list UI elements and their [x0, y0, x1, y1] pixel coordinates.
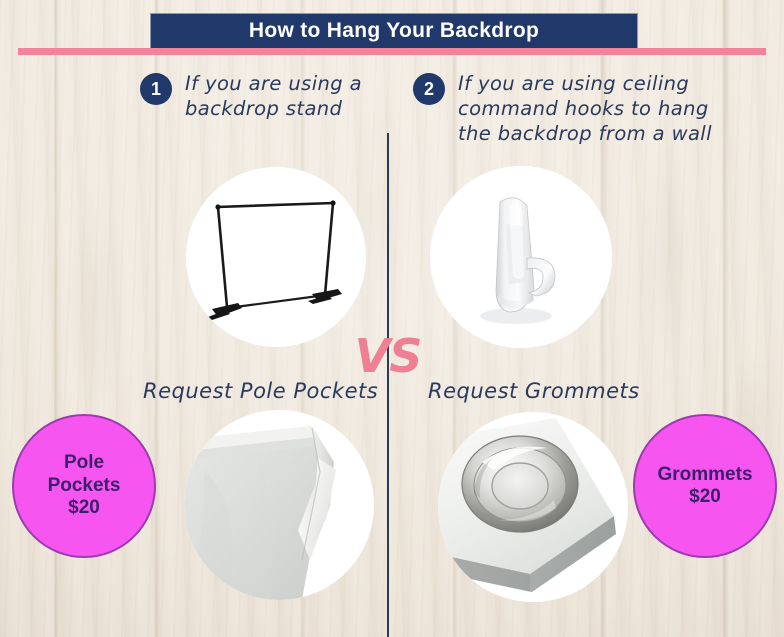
- step-2-text: If you are using ceiling command hooks t…: [458, 71, 712, 146]
- grommet-photo: [438, 412, 628, 602]
- bubble-right-line-1: Grommets: [657, 464, 752, 486]
- price-bubble-pole-pockets-text: Pole Pockets $20: [48, 452, 121, 519]
- infographic-poster: How to Hang Your Backdrop 1 If you are u…: [0, 0, 784, 637]
- step-2-number-badge: 2: [413, 73, 445, 105]
- command-hook-photo: [430, 166, 612, 348]
- backdrop-stand-photo: [186, 167, 366, 347]
- step-1: 1 If you are using a backdrop stand: [140, 71, 380, 121]
- price-bubble-grommets[interactable]: Grommets $20: [633, 414, 777, 558]
- step-1-line-1: If you are using a: [185, 71, 362, 96]
- pink-divider-rule: [18, 48, 766, 55]
- step-1-line-2: backdrop stand: [185, 96, 362, 121]
- step-1-number-badge: 1: [140, 73, 172, 105]
- step-2-line-3: the backdrop from a wall: [458, 121, 712, 146]
- vertical-divider: [387, 133, 389, 637]
- grommet-illustration: [438, 412, 628, 602]
- pole-pocket-illustration: [184, 410, 374, 600]
- price-bubble-pole-pockets[interactable]: Pole Pockets $20: [12, 414, 156, 558]
- step-2-line-1: If you are using ceiling: [458, 71, 712, 96]
- title-banner: How to Hang Your Backdrop: [150, 13, 638, 49]
- pole-pocket-fabric-photo: [184, 410, 374, 600]
- versus-label: VS: [349, 333, 427, 379]
- bubble-left-line-2: Pockets: [48, 475, 121, 497]
- caption-grommets: Request Grommets: [428, 379, 640, 403]
- price-bubble-grommets-text: Grommets $20: [657, 464, 752, 509]
- step-2: 2 If you are using ceiling command hooks…: [413, 71, 733, 146]
- page-title: How to Hang Your Backdrop: [249, 19, 539, 43]
- bubble-left-line-3: $20: [48, 497, 121, 519]
- command-hook-illustration: [430, 166, 612, 348]
- step-1-text: If you are using a backdrop stand: [185, 71, 362, 121]
- bubble-left-line-1: Pole: [48, 452, 121, 474]
- caption-pole-pockets: Request Pole Pockets: [143, 379, 378, 403]
- backdrop-stand-illustration: [186, 167, 366, 347]
- bubble-right-line-2: $20: [657, 486, 752, 508]
- step-2-line-2: command hooks to hang: [458, 96, 712, 121]
